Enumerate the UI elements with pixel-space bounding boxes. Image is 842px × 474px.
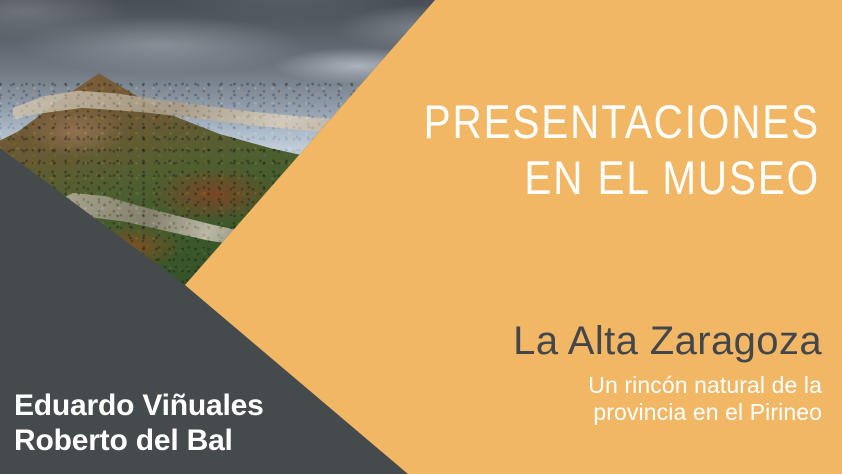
author-name-2: Roberto del Bal: [14, 423, 264, 458]
slide-title: PRESENTACIONES EN EL MUSEO: [300, 94, 820, 206]
topic-subtitle: Un rincón natural de la provincia en el …: [282, 372, 822, 426]
presentation-slide: PRESENTACIONES EN EL MUSEO La Alta Zarag…: [0, 0, 842, 474]
authors-block: Eduardo Viñuales Roberto del Bal: [14, 388, 264, 458]
title-line-2: EN EL MUSEO: [373, 150, 820, 206]
topic-subtitle-line-2: provincia en el Pirineo: [282, 399, 822, 426]
topic-block: La Alta Zaragoza Un rincón natural de la…: [282, 318, 822, 426]
author-name-1: Eduardo Viñuales: [14, 388, 264, 423]
topic-subtitle-line-1: Un rincón natural de la: [282, 372, 822, 399]
title-line-1: PRESENTACIONES: [373, 94, 820, 150]
topic-heading: La Alta Zaragoza: [282, 318, 822, 364]
